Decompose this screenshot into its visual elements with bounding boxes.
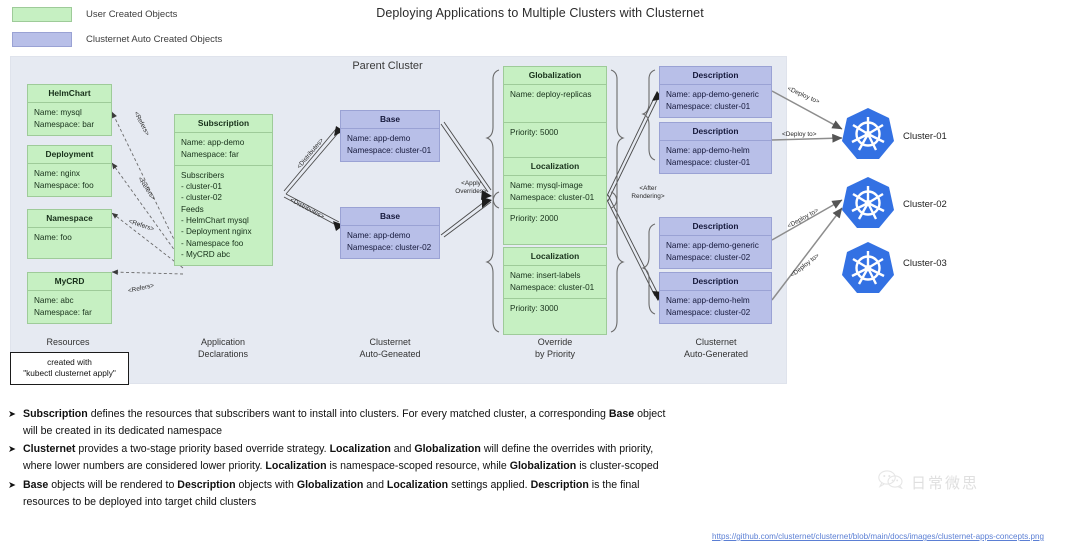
subscription-details: Subscribers - cluster-01 - cluster-02 Fe… [175,165,272,266]
node-line: - Namespace foo [181,238,266,249]
node-line: Name: app-demo [347,133,433,144]
node-body: Name: app-demo-generic Namespace: cluste… [660,85,771,117]
edge-label-line: Overrides> [455,188,486,195]
node-line: Namespace: cluster-02 [347,242,433,253]
node-header: Namespace [28,210,111,228]
resource-node-mycrd[interactable]: MyCRD Name: abc Namespace: far [27,272,112,324]
node-header: Deployment [28,146,111,164]
node-line: Name: foo [34,232,105,243]
node-line: Namespace: far [34,307,105,318]
node-priority: Priority: 5000 [504,122,606,158]
subscription-node[interactable]: Subscription Name: app-demo Namespace: f… [174,114,273,266]
column-caption-resources: Resources [0,337,148,349]
bullet-arrow-icon: ➤ [8,406,23,440]
node-body: Name: app-demo-helm Namespace: cluster-0… [660,141,771,173]
node-line: Name: insert-labels [510,270,600,281]
base-node-cluster-02[interactable]: Base Name: app-demo Namespace: cluster-0… [340,207,440,259]
description-node-generic-cluster-02[interactable]: Description Name: app-demo-generic Names… [659,217,772,269]
kubernetes-icon-cluster-03 [842,242,894,293]
node-header: Localization [504,158,606,176]
node-line: Name: nginx [34,168,105,179]
node-line: - HelmChart mysql [181,215,266,226]
diagram-title: Deploying Applications to Multiple Clust… [0,6,1080,20]
node-header: HelmChart [28,85,111,103]
node-body: Name: foo [28,228,111,248]
node-line: Namespace: far [181,149,266,160]
node-header: Globalization [504,67,606,85]
edge-label-deploy-to-4: <Deploy to> [789,252,821,279]
edge-label-deploy-to-2: <Deploy to> [782,131,816,139]
node-line: Name: mysql-image [510,180,600,191]
override-node-localization-mysql-image[interactable]: Localization Name: mysql-image Namespace… [503,157,607,245]
kubernetes-icon-cluster-02 [842,177,894,228]
description-node-generic-cluster-01[interactable]: Description Name: app-demo-generic Names… [659,66,772,118]
caption-line: Clusternet [636,337,796,349]
note-item: ➤Base objects will be rendered to Descri… [8,477,673,511]
node-header: Description [660,218,771,236]
node-line: Name: app-demo-helm [666,295,765,306]
node-line: Name: deploy-replicas [510,89,600,100]
legend-item-auto-created: Clusternet Auto Created Objects [12,31,222,48]
node-priority: Priority: 2000 [504,208,606,244]
legend-label-auto-created: Clusternet Auto Created Objects [86,34,222,45]
override-node-localization-insert-labels[interactable]: Localization Name: insert-labels Namespa… [503,247,607,335]
node-body: Name: app-demo-helm Namespace: cluster-0… [660,291,771,323]
note-item: ➤Subscription defines the resources that… [8,406,673,440]
node-line: Feeds [181,204,266,215]
node-line: Priority: 2000 [510,213,600,224]
node-line: Namespace: foo [34,180,105,191]
cluster-label-03: Cluster-03 [903,258,947,269]
caption-line: Auto-Generated [636,349,796,361]
cluster-label-02: Cluster-02 [903,199,947,210]
node-header: Description [660,67,771,85]
node-line: Name: app-demo-helm [666,145,765,156]
caption-line: Resources [0,337,148,349]
node-header: Base [341,111,439,129]
note-text: Subscription defines the resources that … [23,406,673,440]
node-body: Name: mysql-image Namespace: cluster-01 [504,176,606,208]
column-caption-clusternet-auto-generated-1: Clusternet Auto-Geneated [310,337,470,360]
node-body: Name: mysql Namespace: bar [28,103,111,135]
resource-node-namespace[interactable]: Namespace Name: foo [27,209,112,259]
node-line: Namespace: cluster-02 [666,307,765,318]
node-body: Name: app-demo Namespace: cluster-02 [341,226,439,258]
node-line: - Deployment nginx [181,226,266,237]
node-line: Priority: 3000 [510,303,600,314]
override-node-globalization[interactable]: Globalization Name: deploy-replicas Prio… [503,66,607,159]
node-line: Subscribers [181,170,266,181]
column-caption-clusternet-auto-generated-2: Clusternet Auto-Generated [636,337,796,360]
caption-line: Application [143,337,303,349]
node-body: Name: app-demo Namespace: cluster-01 [341,129,439,161]
node-header: Base [341,208,439,226]
edge-label-line: <After [639,185,656,192]
note-text: Base objects will be rendered to Descrip… [23,477,673,511]
edge-label-line: <Apply [461,180,481,187]
node-line: Namespace: cluster-01 [666,101,765,112]
node-priority: Priority: 3000 [504,298,606,334]
node-body: Name: insert-labels Namespace: cluster-0… [504,266,606,298]
legend-swatch-auto-created [12,32,72,47]
description-node-helm-cluster-02[interactable]: Description Name: app-demo-helm Namespac… [659,272,772,324]
node-header: Localization [504,248,606,266]
node-header: MyCRD [28,273,111,291]
caption-line: Auto-Geneated [310,349,470,361]
node-line: Name: app-demo-generic [666,240,765,251]
description-node-helm-cluster-01[interactable]: Description Name: app-demo-helm Namespac… [659,122,772,174]
node-line: Name: abc [34,295,105,306]
node-header: Subscription [175,115,272,133]
node-body: Name: abc Namespace: far [28,291,111,323]
node-header: Description [660,123,771,141]
kubectl-note-line: "kubectl clusternet apply" [13,368,126,379]
node-line: Namespace: cluster-02 [666,252,765,263]
edge-label-line: Rendering> [631,193,664,200]
wechat-watermark: 日常微思 [878,470,979,494]
node-line: Name: app-demo [181,137,266,148]
edge-label-deploy-to-3: <Deploy to> [786,207,820,230]
column-caption-application-declarations: Application Declarations [143,337,303,360]
node-line: Priority: 5000 [510,127,600,138]
node-line: - MyCRD abc [181,249,266,260]
node-line: Namespace: bar [34,119,105,130]
node-body: Name: app-demo-generic Namespace: cluste… [660,236,771,268]
bullet-arrow-icon: ➤ [8,477,23,511]
node-header: Description [660,273,771,291]
kubectl-note-line: created with [13,357,126,368]
subscription-meta: Name: app-demo Namespace: far [175,133,272,165]
node-line: Name: app-demo-generic [666,89,765,100]
resource-node-helmchart[interactable]: HelmChart Name: mysql Namespace: bar [27,84,112,136]
notes-list: ➤Subscription defines the resources that… [8,406,673,512]
caption-line: Declarations [143,349,303,361]
edge-label-apply-overrides: <Apply Overrides> [444,180,498,195]
node-body: Name: deploy-replicas [504,85,606,122]
node-line: Namespace: cluster-01 [510,282,600,293]
kubectl-apply-note: created with "kubectl clusternet apply" [10,352,129,385]
wechat-icon [878,470,904,494]
source-url-link[interactable]: https://github.com/clusternet/clusternet… [712,532,1044,541]
node-line: - cluster-02 [181,192,266,203]
cluster-label-01: Cluster-01 [903,131,947,142]
node-body: Name: nginx Namespace: foo [28,164,111,196]
node-line: Namespace: cluster-01 [347,145,433,156]
node-line: - cluster-01 [181,181,266,192]
node-line: Namespace: cluster-01 [666,157,765,168]
caption-line: by Priority [475,349,635,361]
node-line: Name: mysql [34,107,105,118]
bullet-arrow-icon: ➤ [8,441,23,475]
resource-node-deployment[interactable]: Deployment Name: nginx Namespace: foo [27,145,112,197]
column-caption-override-by-priority: Override by Priority [475,337,635,360]
node-line: Name: app-demo [347,230,433,241]
kubernetes-icon-cluster-01 [842,108,894,159]
note-text: Clusternet provides a two-stage priority… [23,441,673,475]
note-item: ➤Clusternet provides a two-stage priorit… [8,441,673,475]
watermark-text: 日常微思 [911,472,979,493]
caption-line: Clusternet [310,337,470,349]
node-line: Namespace: cluster-01 [510,192,600,203]
edge-label-after-rendering: <After Rendering> [624,185,672,200]
edge-label-deploy-to-1: <Deploy to> [786,85,821,106]
caption-line: Override [475,337,635,349]
base-node-cluster-01[interactable]: Base Name: app-demo Namespace: cluster-0… [340,110,440,162]
